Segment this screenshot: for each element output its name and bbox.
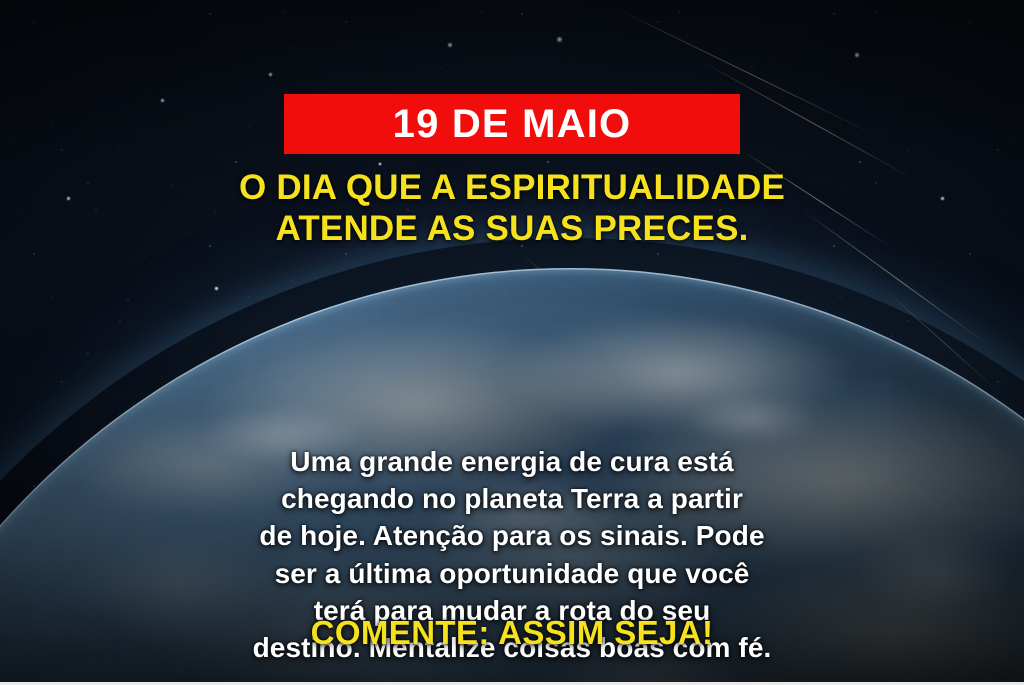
date-banner-label: 19 DE MAIO xyxy=(393,104,632,144)
call-to-action: COMENTE: ASSIM SEJA! xyxy=(0,615,1024,651)
headline: O DIA QUE A ESPIRITUALIDADE ATENDE AS SU… xyxy=(0,168,1024,249)
body-line-1: Uma grande energia de cura está xyxy=(60,443,964,480)
call-to-action-label: COMENTE: ASSIM SEJA! xyxy=(311,614,714,651)
headline-line-2: ATENDE AS SUAS PRECES. xyxy=(52,209,972,250)
body-line-4: ser a última oportunidade que você xyxy=(60,555,964,592)
poster-content: 19 DE MAIO O DIA QUE A ESPIRITUALIDADE A… xyxy=(0,0,1024,685)
date-banner: 19 DE MAIO xyxy=(284,94,740,154)
headline-line-1: O DIA QUE A ESPIRITUALIDADE xyxy=(52,168,972,209)
poster-canvas: 19 DE MAIO O DIA QUE A ESPIRITUALIDADE A… xyxy=(0,0,1024,685)
body-line-2: chegando no planeta Terra a partir xyxy=(60,480,964,517)
body-line-3: de hoje. Atenção para os sinais. Pode xyxy=(60,517,964,554)
